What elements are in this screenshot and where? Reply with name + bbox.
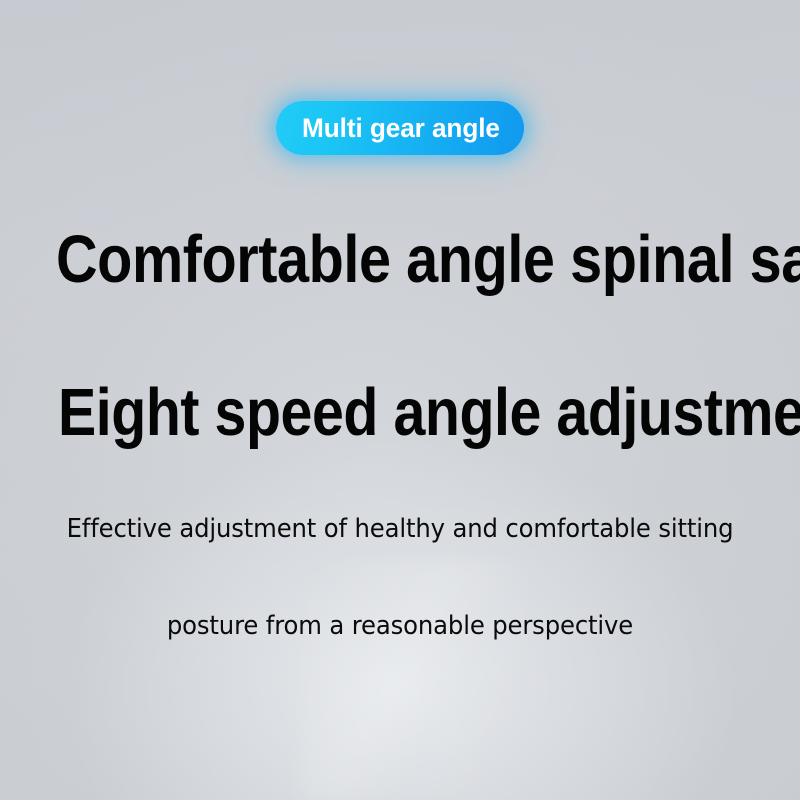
headline-primary: Comfortable angle spinal savior — [56, 226, 744, 293]
body-text-line-2: posture from a reasonable perspective — [26, 613, 774, 639]
headline-secondary: Eight speed angle adjustment — [58, 379, 742, 446]
multi-gear-angle-badge: Multi gear angle — [276, 101, 525, 155]
banner-content: Multi gear angle Comfortable angle spina… — [0, 0, 800, 800]
body-text-line-1: Effective adjustment of healthy and comf… — [26, 516, 774, 542]
badge-row: Multi gear angle — [0, 101, 800, 155]
badge-label: Multi gear angle — [302, 115, 500, 142]
promo-banner: Multi gear angle Comfortable angle spina… — [0, 0, 800, 800]
